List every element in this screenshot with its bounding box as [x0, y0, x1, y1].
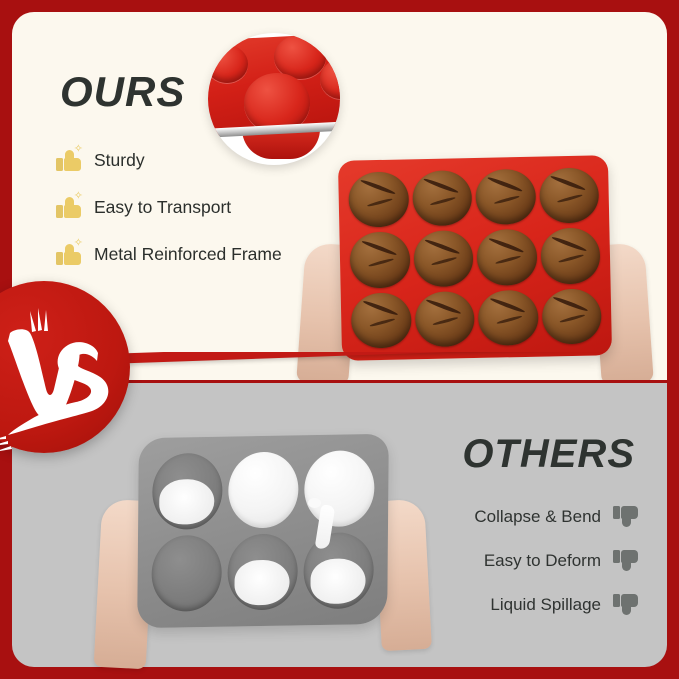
ours-heading: OURS	[60, 68, 185, 116]
mold-cup	[228, 451, 299, 528]
drawback-item: Collapse & Bend	[474, 500, 639, 533]
drawback-label: Easy to Deform	[484, 551, 601, 571]
spilled-batter-drop	[308, 498, 321, 508]
thumbs-up-icon: ✧	[56, 242, 82, 266]
mold-cup	[152, 453, 223, 530]
drawback-item: Liquid Spillage	[474, 588, 639, 621]
muffin-grid	[348, 167, 602, 348]
comparison-infographic: OURS ✧ Sturdy ✧ Easy to Transport	[0, 0, 679, 679]
muffin	[349, 232, 410, 289]
gray-deforming-silicone-mold	[137, 434, 389, 628]
muffin	[540, 228, 601, 285]
others-heading: OTHERS	[462, 432, 635, 477]
feature-label: Easy to Transport	[94, 197, 231, 218]
feature-label: Sturdy	[94, 150, 145, 171]
feature-item: ✧ Metal Reinforced Frame	[56, 235, 282, 273]
muffin	[413, 230, 474, 287]
drawback-label: Collapse & Bend	[474, 507, 601, 527]
muffin	[475, 169, 536, 226]
red-silicone-muffin-tray	[338, 155, 612, 361]
muffin	[351, 292, 412, 349]
muffin	[541, 288, 602, 345]
muffin	[539, 167, 600, 224]
feature-label: Metal Reinforced Frame	[94, 244, 282, 265]
feature-item: ✧ Easy to Transport	[56, 188, 282, 226]
mold-cup	[227, 533, 298, 610]
drawback-item: Easy to Deform	[474, 544, 639, 577]
mold-cup	[208, 45, 248, 83]
mold-cup-grid	[151, 450, 374, 612]
muffin	[414, 291, 475, 348]
versus-badge	[0, 281, 130, 453]
muffin	[478, 289, 539, 346]
metal-reinforced-frame-closeup	[208, 33, 340, 165]
thumbs-up-icon: ✧	[56, 195, 82, 219]
muffin	[348, 171, 409, 228]
others-drawback-list: Collapse & Bend Easy to Deform Liquid Sp…	[474, 500, 639, 632]
thumbs-down-icon	[613, 593, 639, 617]
mold-cup	[151, 535, 222, 612]
ours-feature-list: ✧ Sturdy ✧ Easy to Transport ✧ Metal Rei…	[56, 141, 282, 282]
muffin	[476, 229, 537, 286]
drawback-label: Liquid Spillage	[490, 595, 601, 615]
muffin	[412, 170, 473, 227]
mold-cup	[303, 532, 374, 609]
thumbs-down-icon	[613, 505, 639, 529]
thumbs-down-icon	[613, 549, 639, 573]
mold-cup	[304, 450, 375, 527]
thumbs-up-icon: ✧	[56, 148, 82, 172]
